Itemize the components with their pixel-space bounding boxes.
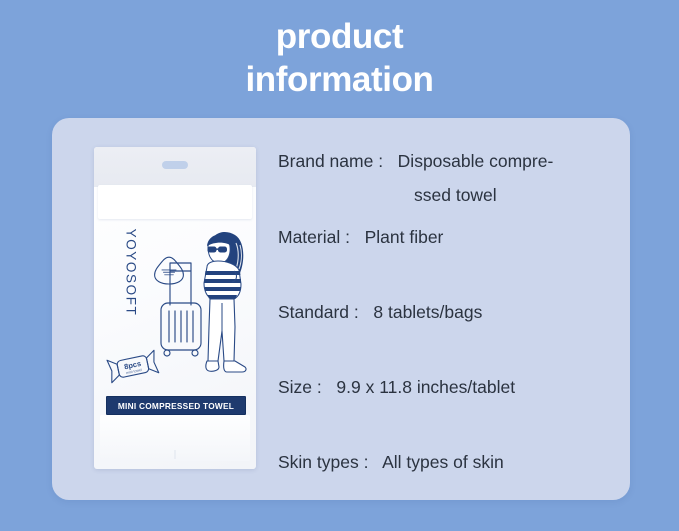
product-package-image: YOYOSOFT 8pcs mini towe bbox=[94, 147, 256, 469]
spec-label-standard: Standard : bbox=[278, 302, 359, 322]
page-title-line-2: information bbox=[0, 59, 679, 102]
suitcase-icon bbox=[161, 263, 201, 356]
product-information-image: product information YOYOSOFT bbox=[0, 0, 679, 531]
woman-figure-icon bbox=[204, 232, 246, 372]
spec-value-brand-name-continued: ssed towel bbox=[414, 187, 497, 205]
spec-value-brand-name: Disposable compre- bbox=[398, 151, 554, 171]
spec-row-skin-types: Skin types : All types of skin bbox=[278, 454, 504, 472]
spec-value-standard: 8 tablets/bags bbox=[373, 302, 482, 322]
page-title-line-1: product bbox=[0, 16, 679, 59]
package-banner-label: MINI COMPRESSED TOWEL bbox=[118, 401, 234, 411]
package-product-banner: MINI COMPRESSED TOWEL bbox=[106, 396, 246, 415]
spec-label-brand-name: Brand name : bbox=[278, 151, 383, 171]
traveler-illustration bbox=[150, 227, 254, 407]
package-hang-hole bbox=[162, 161, 188, 169]
package-bottom-seam bbox=[175, 450, 176, 459]
package-brand-text: YOYOSOFT bbox=[124, 213, 139, 333]
spec-label-size: Size : bbox=[278, 377, 322, 397]
spec-row-brand-name: Brand name : Disposable compre- bbox=[278, 153, 553, 171]
spec-value-size: 9.9 x 11.8 inches/tablet bbox=[336, 377, 515, 397]
spec-row-material: Material : Plant fiber bbox=[278, 229, 443, 247]
package-seal-strip bbox=[98, 185, 252, 219]
information-card: YOYOSOFT 8pcs mini towe bbox=[52, 118, 630, 500]
spec-row-size: Size : 9.9 x 11.8 inches/tablet bbox=[278, 379, 515, 397]
spec-label-skin-types: Skin types : bbox=[278, 452, 368, 472]
spec-value-material: Plant fiber bbox=[365, 227, 444, 247]
spec-row-standard: Standard : 8 tablets/bags bbox=[278, 304, 482, 322]
spec-value-skin-types: All types of skin bbox=[382, 452, 504, 472]
spec-label-material: Material : bbox=[278, 227, 350, 247]
page-title: product information bbox=[0, 16, 679, 101]
